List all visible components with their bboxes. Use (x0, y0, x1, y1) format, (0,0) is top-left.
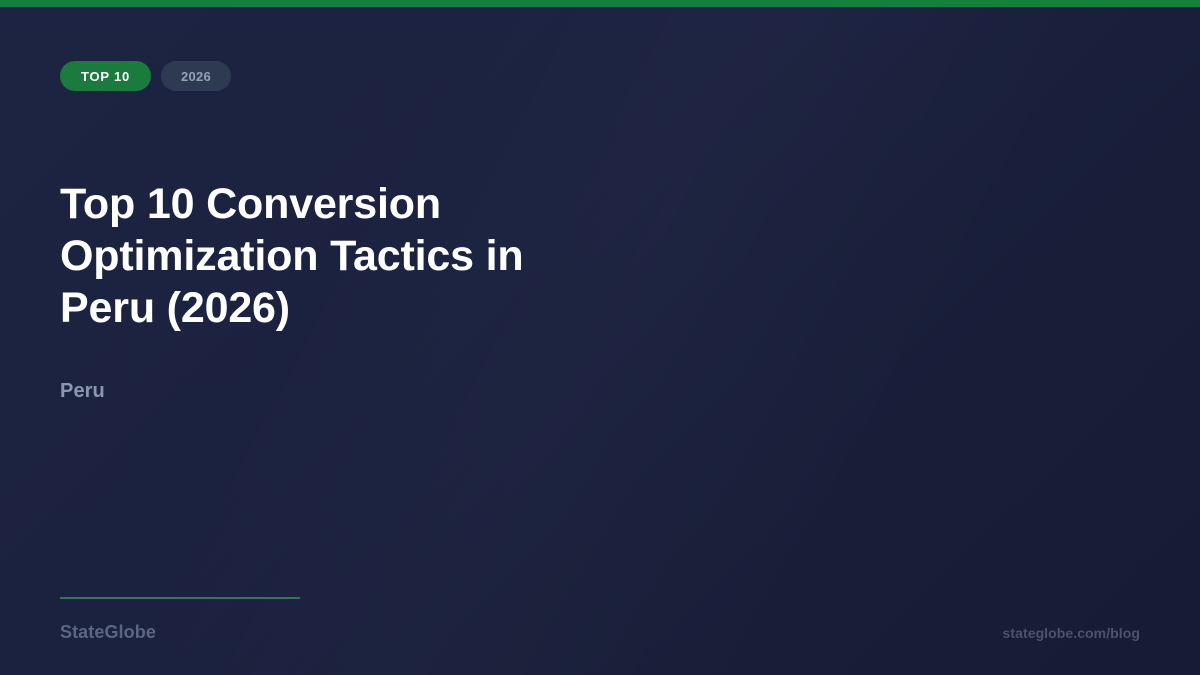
top-accent-bar (0, 0, 1200, 7)
footer-brand-name: StateGlobe (60, 622, 156, 643)
footer-divider (60, 597, 300, 599)
footer-site-url[interactable]: stateglobe.com/blog (1003, 625, 1140, 641)
hero-card: TOP 10 2026 Top 10 Conversion Optimizati… (0, 0, 1200, 675)
badge-top-rank[interactable]: TOP 10 (60, 61, 151, 91)
background-sheen (0, 0, 1200, 675)
badge-year[interactable]: 2026 (161, 61, 231, 91)
badge-group: TOP 10 2026 (60, 61, 231, 91)
page-title: Top 10 Conversion Optimization Tactics i… (60, 178, 620, 334)
subtitle-region: Peru (60, 380, 105, 403)
